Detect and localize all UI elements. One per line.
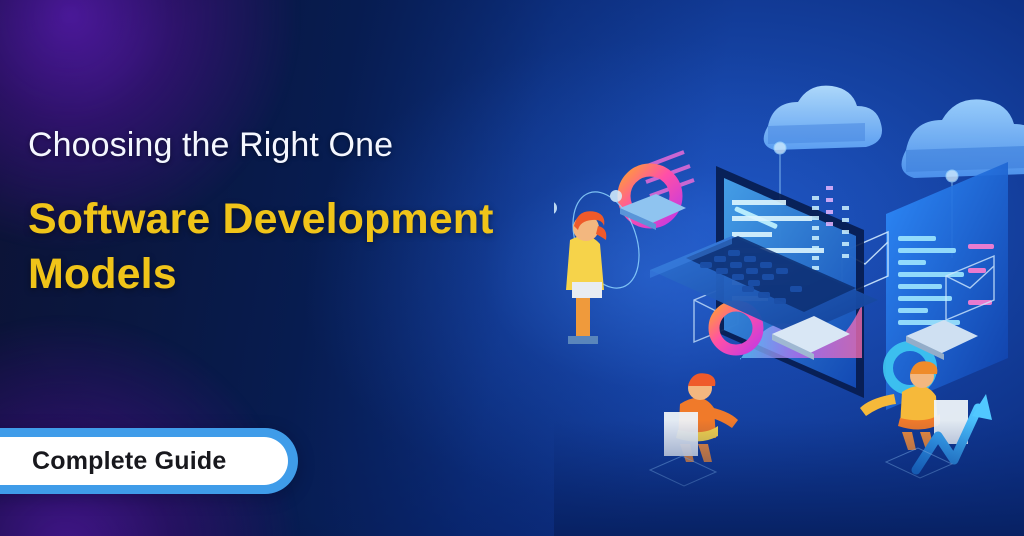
headline-block: Choosing the Right One Software Developm…	[28, 126, 588, 302]
page-title-line-2: Models	[28, 247, 588, 302]
monitor-code-right	[886, 162, 1008, 410]
cloud-icon-small	[764, 86, 882, 150]
complete-guide-button-face[interactable]: Complete Guide	[0, 437, 288, 485]
illustration-container: CSS3 PHP HTML5 JAVA SCRIPT C++ RUBY PYT	[554, 0, 1024, 536]
complete-guide-button[interactable]: Complete Guide	[0, 428, 298, 494]
complete-guide-button-label: Complete Guide	[32, 447, 227, 476]
page-title: Software Development Models	[28, 192, 588, 302]
page-title-line-1: Software Development	[28, 195, 494, 243]
cta-wrapper: Complete Guide	[0, 428, 298, 494]
promo-banner: CSS3 PHP HTML5 JAVA SCRIPT C++ RUBY PYT …	[0, 0, 1024, 536]
eyebrow-text: Choosing the Right One	[28, 126, 588, 164]
